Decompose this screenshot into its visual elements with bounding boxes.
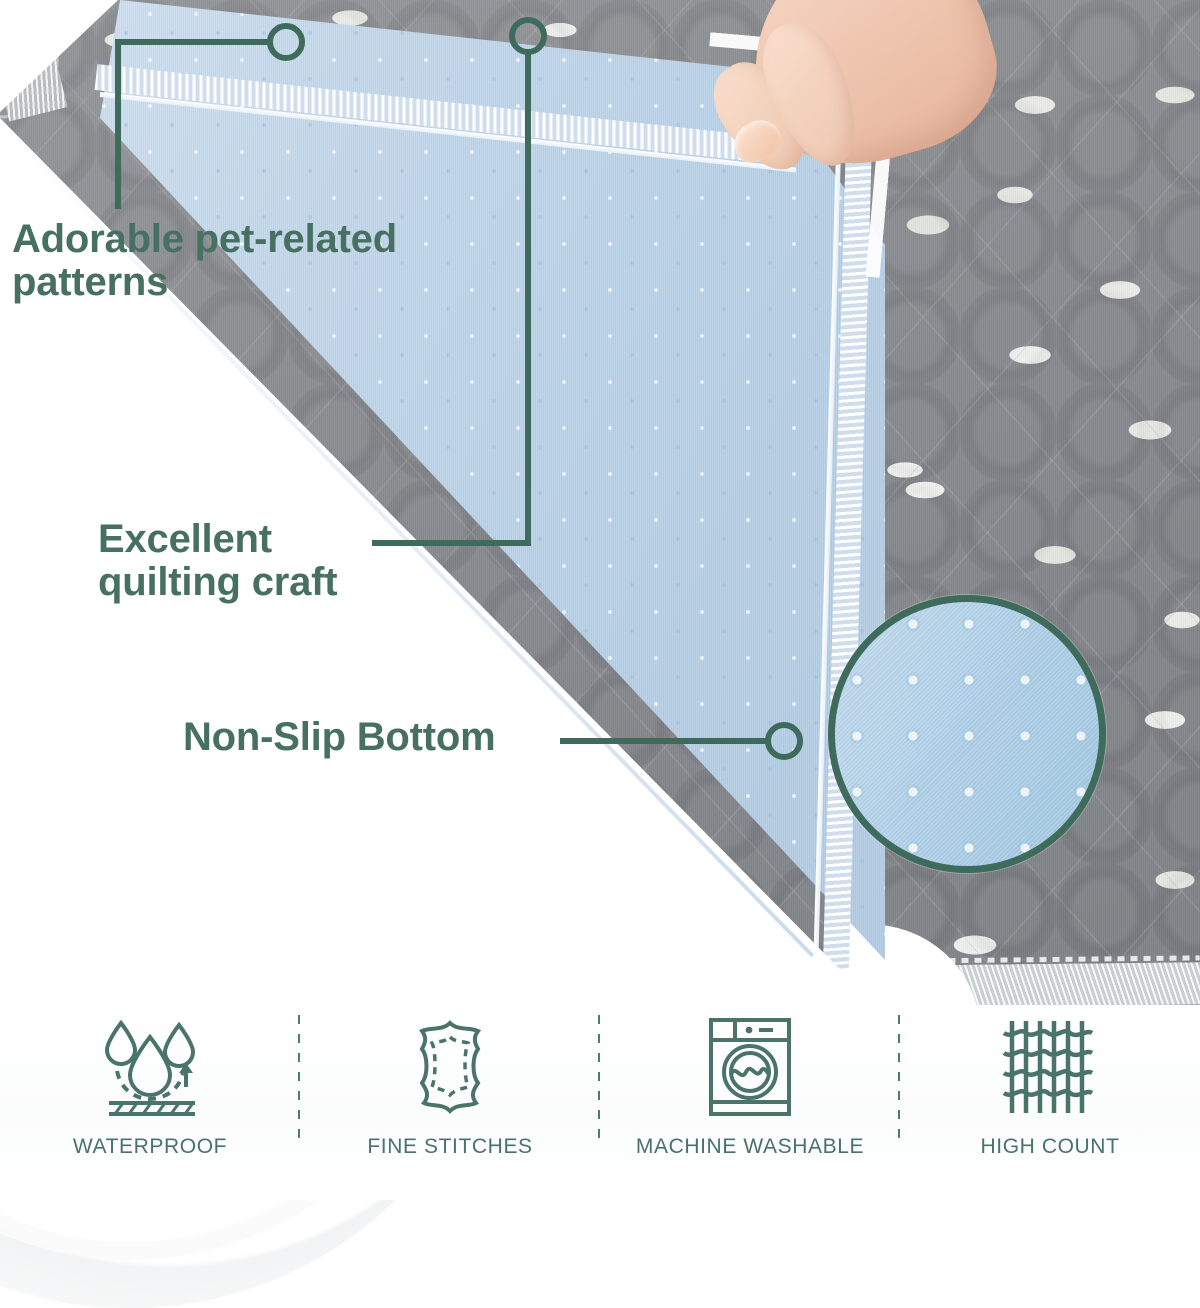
feature-caption: WATERPROOF [73,1135,227,1159]
callout-label-patterns: Adorable pet-related patterns [12,218,397,304]
product-photo: Adorable pet-related patterns Excellent … [0,0,1200,1030]
callout-label-nonslip: Non-Slip Bottom [183,716,496,759]
feature-fine-stitches: FINE STITCHES [300,1005,600,1200]
feature-waterproof: WATERPROOF [0,1005,300,1200]
hand-holding-pad [655,0,985,210]
feature-caption: HIGH COUNT [981,1135,1120,1159]
feature-machine-washable: MACHINE WASHABLE [600,1005,900,1200]
feature-caption: MACHINE WASHABLE [636,1135,864,1159]
feature-strip: WATERPROOF FINE STITCHES [0,1005,1200,1200]
woven-mesh-grid-icon [996,1013,1104,1121]
callout-label-quilting: Excellent quilting craft [98,518,337,604]
leather-hide-stitches-icon [398,1013,502,1121]
washing-machine-icon [701,1013,799,1121]
feature-high-count: HIGH COUNT [900,1005,1200,1200]
feature-caption: FINE STITCHES [367,1135,532,1159]
non-slip-dots-magnifier [828,595,1106,873]
product-infographic: Adorable pet-related patterns Excellent … [0,0,1200,1200]
waterproof-droplets-icon [91,1013,209,1121]
magnified-weave-texture [835,602,1099,866]
